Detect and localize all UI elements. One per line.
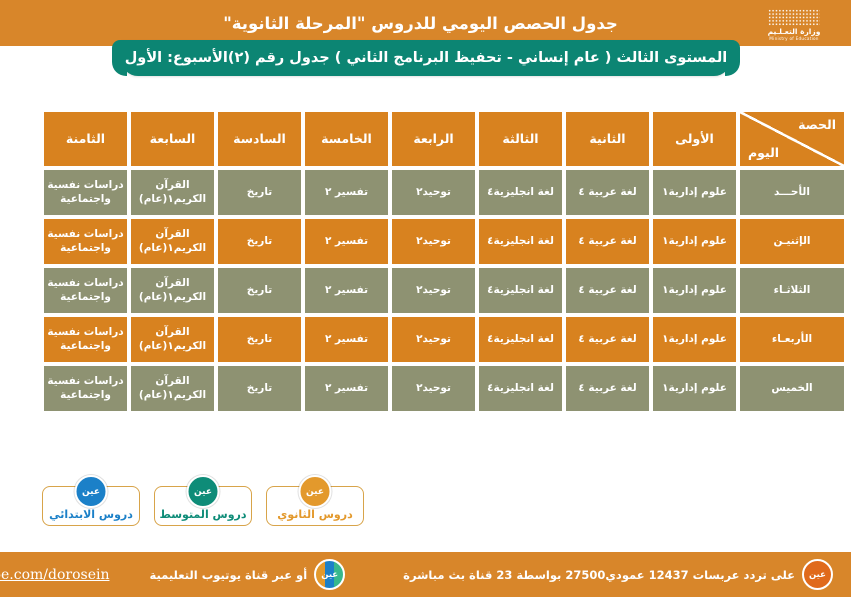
cell-tuesday-p5: تفسير ٢ [305,268,388,313]
cell-tuesday-p1: علوم إدارية١ [653,268,736,313]
ayn-logo-icon: عين [187,475,220,508]
cell-sunday-p1: علوم إدارية١ [653,170,736,215]
cell-thursday-p3: لغة انجليزية٤ [479,366,562,411]
subtitle-text: المستوى الثالث ( عام إنساني - تحفيظ البر… [125,50,728,66]
period-header-8: الثامنة [44,112,127,166]
button-label-thanawi: دروس الثانوي [277,508,352,521]
cell-wednesday-p4: توحيد٢ [392,317,475,362]
cell-monday-p3: لغة انجليزية٤ [479,219,562,264]
day-label-wednesday: الأربعـاء [740,317,844,362]
cell-sunday-p6: تاريخ [218,170,301,215]
cell-tuesday-p3: لغة انجليزية٤ [479,268,562,313]
footer-youtube-text: أو عبر قناة يوتيوب التعليمية [149,568,307,582]
corner-period-label: الحصة [798,117,836,133]
cell-thursday-p4: توحيد٢ [392,366,475,411]
cell-wednesday-p5: تفسير ٢ [305,317,388,362]
ayn-satellite-logo-icon: عين [802,559,833,590]
ayn-logo-icon: عين [75,475,108,508]
cell-monday-p6: تاريخ [218,219,301,264]
day-label-sunday: الأحـــد [740,170,844,215]
ministry-logo-english: Ministry of Education [769,37,818,41]
cell-sunday-p4: توحيد٢ [392,170,475,215]
cell-thursday-p5: تفسير ٢ [305,366,388,411]
button-label-ibtidai: دروس الابتدائي [49,508,133,521]
cell-tuesday-p4: توحيد٢ [392,268,475,313]
footer-youtube-info: عين أو عبر قناة يوتيوب التعليمية [149,559,345,590]
cell-thursday-p7: القرآن الكريم١(عام) [131,366,214,411]
cell-tuesday-p6: تاريخ [218,268,301,313]
cell-monday-p5: تفسير ٢ [305,219,388,264]
cell-sunday-p2: لغة عربية ٤ [566,170,649,215]
ayn-logo-icon: عين [299,475,332,508]
cell-wednesday-p7: القرآن الكريم١(عام) [131,317,214,362]
cell-wednesday-p2: لغة عربية ٤ [566,317,649,362]
page-title: جدول الحصص اليومي للدروس "المرحلة الثانو… [223,14,618,33]
period-header-5: الخامسة [305,112,388,166]
button-doros-thanawi[interactable]: عين دروس الثانوي [266,486,364,526]
cell-wednesday-p1: علوم إدارية١ [653,317,736,362]
cell-thursday-p1: علوم إدارية١ [653,366,736,411]
cell-sunday-p3: لغة انجليزية٤ [479,170,562,215]
cell-sunday-p7: القرآن الكريم١(عام) [131,170,214,215]
period-header-1: الأولى [653,112,736,166]
button-doros-ibtidai[interactable]: عين دروس الابتدائي [42,486,140,526]
table-row: الثلاثـاء علوم إدارية١ لغة عربية ٤ لغة ا… [44,268,844,313]
cell-wednesday-p8: دراسات نفسية واجتماعية [44,317,127,362]
cell-sunday-p8: دراسات نفسية واجتماعية [44,170,127,215]
cell-monday-p4: توحيد٢ [392,219,475,264]
ministry-dots-icon [768,9,820,26]
cell-monday-p8: دراسات نفسية واجتماعية [44,219,127,264]
table-row: الأربعـاء علوم إدارية١ لغة عربية ٤ لغة ا… [44,317,844,362]
cell-thursday-p6: تاريخ [218,366,301,411]
period-header-6: السادسة [218,112,301,166]
table-header-row: الحصة اليوم الأولى الثانية الثالثة الراب… [44,112,844,166]
table-row: الإثنيـن علوم إدارية١ لغة عربية ٤ لغة ان… [44,219,844,264]
cell-tuesday-p7: القرآن الكريم١(عام) [131,268,214,313]
day-label-tuesday: الثلاثـاء [740,268,844,313]
day-label-thursday: الخميس [740,366,844,411]
footer-satellite-info: عين على تردد عربسات 12437 عمودي27500 بوا… [403,559,833,590]
corner-day-label: اليوم [748,145,779,161]
schedule-table: الحصة اليوم الأولى الثانية الثالثة الراب… [40,108,848,415]
period-header-4: الرابعة [392,112,475,166]
ayn-youtube-logo-icon: عين [314,559,345,590]
button-label-mutawasit: دروس المتوسط [159,508,246,521]
cell-monday-p2: لغة عربية ٤ [566,219,649,264]
lesson-level-buttons: عين دروس الابتدائي عين دروس المتوسط عين … [42,486,364,526]
corner-header-cell: الحصة اليوم [740,112,844,166]
ministry-logo-arabic: وزارة التعـلـيم [768,28,821,36]
table-row: الأحـــد علوم إدارية١ لغة عربية ٤ لغة ان… [44,170,844,215]
period-header-3: الثالثة [479,112,562,166]
cell-thursday-p8: دراسات نفسية واجتماعية [44,366,127,411]
cell-wednesday-p3: لغة انجليزية٤ [479,317,562,362]
cell-thursday-p2: لغة عربية ٤ [566,366,649,411]
table-row: الخميس علوم إدارية١ لغة عربية ٤ لغة انجل… [44,366,844,411]
cell-monday-p1: علوم إدارية١ [653,219,736,264]
cell-sunday-p5: تفسير ٢ [305,170,388,215]
button-doros-mutawasit[interactable]: عين دروس المتوسط [154,486,252,526]
subtitle-ribbon: المستوى الثالث ( عام إنساني - تحفيظ البر… [121,40,731,76]
period-header-7: السابعة [131,112,214,166]
footer-youtube-link[interactable]: http://youtube.com/dorosein [0,567,109,583]
ministry-of-education-logo: وزارة التعـلـيم Ministry of Education [751,6,837,44]
period-header-2: الثانية [566,112,649,166]
footer-satellite-text: على تردد عربسات 12437 عمودي27500 بواسطة … [403,568,795,582]
footer-bar: عين على تردد عربسات 12437 عمودي27500 بوا… [0,552,851,597]
day-label-monday: الإثنيـن [740,219,844,264]
cell-tuesday-p8: دراسات نفسية واجتماعية [44,268,127,313]
cell-tuesday-p2: لغة عربية ٤ [566,268,649,313]
cell-monday-p7: القرآن الكريم١(عام) [131,219,214,264]
cell-wednesday-p6: تاريخ [218,317,301,362]
